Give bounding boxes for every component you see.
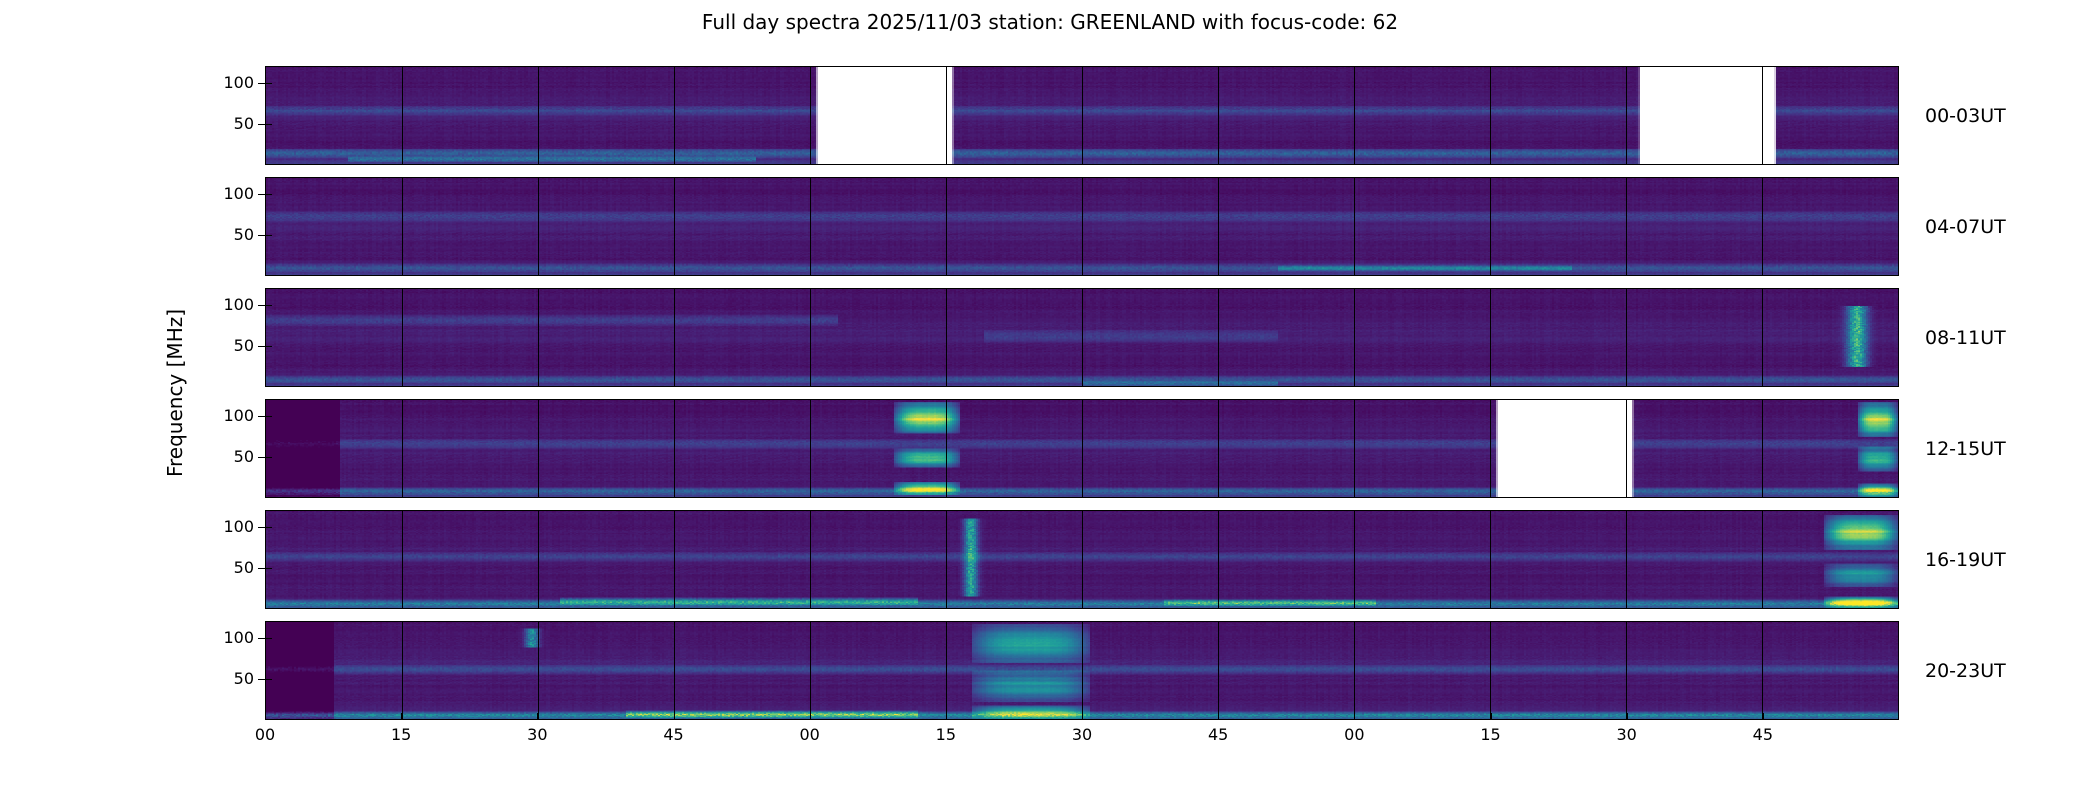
x-tick-label: 45: [1753, 726, 1773, 744]
y-tick-mark-inner: [265, 305, 272, 306]
y-tick-mark-inner: [265, 83, 272, 84]
y-tick-mark-inner: [265, 638, 272, 639]
row-label-16-19ut: 16-19UT: [1925, 550, 2006, 570]
x-tick-mark: [1491, 713, 1492, 720]
x-tick-mark: [1354, 713, 1355, 720]
y-tick-mark: [258, 194, 265, 195]
y-tick-mark: [258, 527, 265, 528]
x-tick-label: 45: [663, 726, 683, 744]
y-tick-label: 50: [234, 338, 254, 354]
y-tick-mark: [258, 305, 265, 306]
x-tick-mark: [810, 713, 811, 720]
spectrogram-canvas: [266, 67, 1898, 164]
y-tick-mark: [258, 346, 265, 347]
y-tick-label: 50: [234, 449, 254, 465]
y-tick-mark: [258, 124, 265, 125]
x-tick-label: 30: [527, 726, 547, 744]
y-tick-mark: [258, 235, 265, 236]
y-tick-label: 100: [223, 519, 254, 535]
x-tick-mark: [1763, 713, 1764, 720]
y-tick-mark-inner: [265, 346, 272, 347]
spectrogram-image[interactable]: [265, 399, 1899, 498]
row-label-08-11ut: 08-11UT: [1925, 328, 2006, 348]
row-label-20-23ut: 20-23UT: [1925, 661, 2006, 681]
y-tick-mark-inner: [265, 416, 272, 417]
y-tick-mark-inner: [265, 568, 272, 569]
row-label-04-07ut: 04-07UT: [1925, 217, 2006, 237]
x-tick-label: 00: [255, 726, 275, 744]
y-tick-mark: [258, 457, 265, 458]
y-tick-mark: [258, 83, 265, 84]
y-tick-label: 100: [223, 297, 254, 313]
y-tick-label: 100: [223, 408, 254, 424]
spectrogram-image[interactable]: [265, 510, 1899, 609]
row-label-00-03ut: 00-03UT: [1925, 106, 2006, 126]
y-tick-mark: [258, 568, 265, 569]
y-tick-label: 100: [223, 186, 254, 202]
x-tick-mark: [265, 713, 266, 720]
x-tick-mark: [1627, 713, 1628, 720]
x-tick-mark: [946, 713, 947, 720]
y-tick-mark-inner: [265, 679, 272, 680]
y-tick-mark-inner: [265, 124, 272, 125]
y-axis-label: Frequency [MHz]: [164, 193, 186, 593]
x-tick-mark: [401, 713, 402, 720]
x-tick-mark: [674, 713, 675, 720]
x-tick-mark: [537, 713, 538, 720]
spectrogram-canvas: [266, 622, 1898, 719]
x-tick-label: 15: [391, 726, 411, 744]
row-label-12-15ut: 12-15UT: [1925, 439, 2006, 459]
x-tick-mark: [1082, 713, 1083, 720]
x-tick-label: 00: [799, 726, 819, 744]
spectrogram-canvas: [266, 289, 1898, 386]
axes-stack: 1005000-03UT1005004-07UT1005008-11UT1005…: [265, 66, 1899, 720]
x-tick-label: 45: [1208, 726, 1228, 744]
y-tick-mark: [258, 679, 265, 680]
spectrogram-image[interactable]: [265, 66, 1899, 165]
y-tick-mark: [258, 416, 265, 417]
spectrogram-figure: Full day spectra 2025/11/03 station: GRE…: [0, 0, 2100, 800]
y-tick-mark-inner: [265, 527, 272, 528]
spectrogram-row: 1005012-15UT: [265, 399, 1899, 498]
x-tick-label: 15: [936, 726, 956, 744]
x-tick-label: 15: [1480, 726, 1500, 744]
y-tick-label: 100: [223, 630, 254, 646]
y-tick-label: 50: [234, 227, 254, 243]
y-tick-label: 50: [234, 116, 254, 132]
y-tick-mark-inner: [265, 235, 272, 236]
spectrogram-canvas: [266, 400, 1898, 497]
spectrogram-row: 1005016-19UT: [265, 510, 1899, 609]
x-tick-label: 00: [1344, 726, 1364, 744]
y-tick-label: 50: [234, 560, 254, 576]
spectrogram-row: 1005008-11UT: [265, 288, 1899, 387]
y-tick-mark-inner: [265, 194, 272, 195]
y-tick-label: 50: [234, 671, 254, 687]
x-tick-label: 30: [1616, 726, 1636, 744]
spectrogram-row: 1005020-23UT: [265, 621, 1899, 720]
spectrogram-image[interactable]: [265, 177, 1899, 276]
page-title: Full day spectra 2025/11/03 station: GRE…: [0, 10, 2100, 34]
spectrogram-canvas: [266, 178, 1898, 275]
y-tick-mark: [258, 638, 265, 639]
spectrogram-row: 1005000-03UT: [265, 66, 1899, 165]
x-axis: 001530450015304500153045: [265, 720, 1899, 760]
spectrogram-image[interactable]: [265, 288, 1899, 387]
spectrogram-image[interactable]: [265, 621, 1899, 720]
y-tick-mark-inner: [265, 457, 272, 458]
spectrogram-row: 1005004-07UT: [265, 177, 1899, 276]
y-tick-label: 100: [223, 75, 254, 91]
x-tick-label: 30: [1072, 726, 1092, 744]
spectrogram-canvas: [266, 511, 1898, 608]
x-tick-mark: [1218, 713, 1219, 720]
